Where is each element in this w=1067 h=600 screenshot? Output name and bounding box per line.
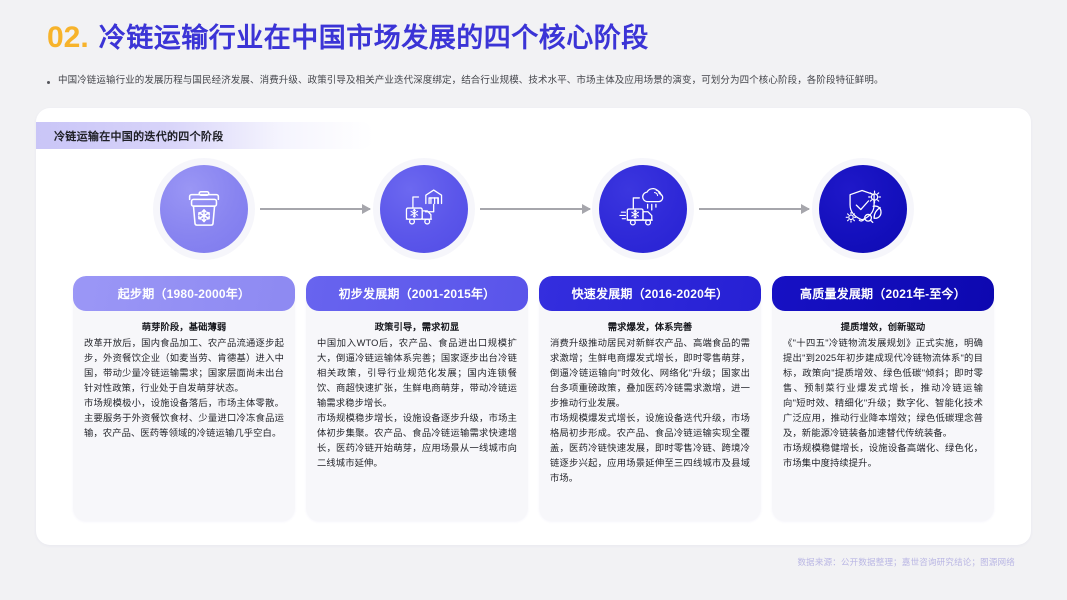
stage-card-1-body: 萌芽阶段，基础薄弱 改革开放后，国内食品加工、农产品流通逐步起步，外资餐饮企业（… <box>73 311 295 453</box>
stage-cards-row: 起步期（1980-2000年） 萌芽阶段，基础薄弱 改革开放后，国内食品加工、农… <box>36 276 1031 521</box>
stage-card-2-title: 初步发展期（2001-2015年） <box>306 276 528 311</box>
title-number: 02. <box>47 21 89 55</box>
stage-arrow-1-icon <box>260 208 370 210</box>
stage-circle-2[interactable] <box>380 165 468 253</box>
stage-card-3-subtitle: 需求爆发，体系完善 <box>550 320 750 335</box>
subtitle-row: 中国冷链运输行业的发展历程与国民经济发展、消费升级、政策引导及相关产业迭代深度绑… <box>47 74 1037 88</box>
stage-card-2-paragraph-2: 市场规模稳步增长，设施设备逐步升级，市场主体初步集聚。农产品、食品冷链运输需求快… <box>317 411 517 471</box>
stage-card-4-title: 高质量发展期（2021年-至今） <box>772 276 994 311</box>
stage-arrow-3-icon <box>699 208 809 210</box>
title-text: 冷链运输行业在中国市场发展的四个核心阶段 <box>99 16 649 55</box>
stage-card-1-paragraph-2: 市场规模极小，设施设备落后，市场主体零散。主要服务于外资餐饮食材、少量进口冷冻食… <box>84 396 284 441</box>
stage-card-3-paragraph-1: 消费升级推动居民对新鲜农产品、高端食品的需求激增；生鲜电商爆发式增长，即时零售萌… <box>550 336 750 411</box>
stage-card-4-body: 提质增效，创新驱动 《"十四五"冷链物流发展规划》正式实施，明确提出"到2025… <box>772 311 994 483</box>
stage-card-4: 高质量发展期（2021年-至今） 提质增效，创新驱动 《"十四五"冷链物流发展规… <box>772 276 994 521</box>
stage-card-3: 快速发展期（2016-2020年） 需求爆发，体系完善 消费升级推动居民对新鲜农… <box>539 276 761 521</box>
stage-card-1: 起步期（1980-2000年） 萌芽阶段，基础薄弱 改革开放后，国内食品加工、农… <box>73 276 295 521</box>
stage-circle-4[interactable] <box>819 165 907 253</box>
slide-root: 02. 冷链运输行业在中国市场发展的四个核心阶段 中国冷链运输行业的发展历程与国… <box>0 0 1067 600</box>
stage-card-1-subtitle: 萌芽阶段，基础薄弱 <box>84 320 284 335</box>
stage-card-4-subtitle: 提质增效，创新驱动 <box>783 320 983 335</box>
bullet-dot-icon <box>47 81 50 84</box>
stage-card-3-body: 需求爆发，体系完善 消费升级推动居民对新鲜农产品、高端食品的需求激增；生鲜电商爆… <box>539 311 761 499</box>
stage-card-3-title: 快速发展期（2016-2020年） <box>539 276 761 311</box>
refrigerated-truck-warehouse-icon <box>400 185 448 233</box>
subtitle-text: 中国冷链运输行业的发展历程与国民经济发展、消费升级、政策引导及相关产业迭代深度绑… <box>58 74 884 88</box>
stage-circle-1[interactable] <box>160 165 248 253</box>
stage-card-2: 初步发展期（2001-2015年） 政策引导，需求初显 中国加入WTO后，农产品… <box>306 276 528 521</box>
stage-card-2-subtitle: 政策引导，需求初显 <box>317 320 517 335</box>
source-footer: 数据来源：公开数据整理；嘉世咨询研究结论；图源网络 <box>797 556 1015 568</box>
stage-circle-3[interactable] <box>599 165 687 253</box>
stage-card-1-paragraph-1: 改革开放后，国内食品加工、农产品流通逐步起步，外资餐饮企业（如麦当劳、肯德基）进… <box>84 336 284 396</box>
stage-circles-row <box>36 165 1031 273</box>
stage-card-4-paragraph-2: 市场规模稳健增长，设施设备高端化、绿色化，市场集中度持续提升。 <box>783 441 983 471</box>
page-title: 02. 冷链运输行业在中国市场发展的四个核心阶段 <box>47 16 649 55</box>
stage-card-2-body: 政策引导，需求初显 中国加入WTO后，农产品、食品进出口规模扩大，倒逼冷链运输体… <box>306 311 528 483</box>
stage-card-2-paragraph-1: 中国加入WTO后，农产品、食品进出口规模扩大，倒逼冷链运输体系完善；国家逐步出台… <box>317 336 517 411</box>
shield-check-gear-leaf-icon <box>839 185 887 233</box>
content-panel: 冷链运输在中国的迭代的四个阶段 <box>36 108 1031 545</box>
stage-card-1-title: 起步期（1980-2000年） <box>73 276 295 311</box>
cooler-box-snowflake-icon <box>181 186 227 232</box>
stage-card-3-paragraph-2: 市场规模爆发式增长，设施设备迭代升级，市场格局初步形成。农产品、食品冷链运输实现… <box>550 411 750 486</box>
iot-cloud-truck-icon <box>619 185 667 233</box>
stage-arrow-2-icon <box>480 208 590 210</box>
panel-label-text: 冷链运输在中国的迭代的四个阶段 <box>54 128 224 144</box>
stage-card-4-paragraph-1: 《"十四五"冷链物流发展规划》正式实施，明确提出"到2025年初步建成现代冷链物… <box>783 336 983 441</box>
panel-label: 冷链运输在中国的迭代的四个阶段 <box>36 122 374 149</box>
